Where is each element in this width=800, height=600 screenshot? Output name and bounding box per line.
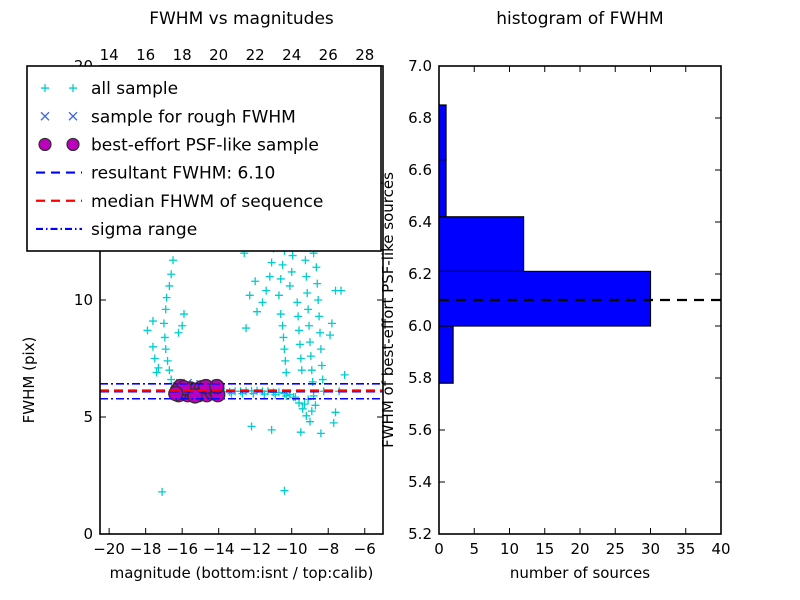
hist-y-tick-label: 5.2 — [408, 525, 432, 543]
data-point-plus — [162, 305, 170, 313]
data-point-plus — [164, 357, 172, 365]
hist-y-tick-label: 6.2 — [408, 265, 432, 283]
data-point-plus — [262, 287, 270, 295]
legend-entry-label: all sample — [91, 79, 178, 99]
hist-x-tick-label: 25 — [606, 540, 625, 558]
data-point-plus — [311, 401, 319, 409]
bottom-tick-label: −20 — [93, 540, 125, 558]
top-tick-label: 18 — [173, 46, 192, 64]
top-tick-label: 24 — [282, 46, 301, 64]
data-point-plus — [300, 400, 308, 408]
data-point-plus — [295, 399, 303, 407]
data-point-plus — [268, 259, 276, 267]
histogram-bar — [439, 217, 524, 272]
data-point-plus — [178, 322, 186, 330]
data-point-plus — [308, 407, 316, 415]
hist-x-tick-label: 10 — [500, 540, 519, 558]
data-point-plus — [308, 366, 316, 374]
figure-canvas: FWHM vs magnitudes1416182022242628−20−18… — [0, 0, 800, 600]
data-point-plus — [288, 268, 296, 276]
matplotlib-figure: FWHM vs magnitudes1416182022242628−20−18… — [0, 0, 800, 600]
data-point-plus — [281, 357, 289, 365]
hist-x-tick-label: 5 — [469, 540, 479, 558]
hist-y-tick-label: 5.6 — [408, 421, 432, 439]
bottom-tick-label: −6 — [354, 540, 376, 558]
hist-x-tick-label: 30 — [641, 540, 660, 558]
data-point-plus — [293, 298, 301, 306]
scatter-bottom-axis: −20−18−16−14−12−10−8−6 — [93, 528, 376, 558]
legend-entry-label: best-effort PSF-like sample — [91, 135, 319, 155]
data-point-plus — [326, 331, 334, 339]
hist-y-tick-label: 5.4 — [408, 473, 432, 491]
hist-y-tick-label: 5.8 — [408, 369, 432, 387]
data-point-plus — [303, 289, 311, 297]
histogram-title: histogram of FWHM — [496, 9, 663, 29]
legend-entry-label: resultant FWHM: 6.10 — [91, 164, 275, 184]
data-point-plus — [305, 322, 313, 330]
scatter-title: FWHM vs magnitudes — [149, 9, 334, 29]
top-tick-label: 26 — [319, 46, 338, 64]
data-point-plus — [337, 287, 345, 295]
data-point-plus — [160, 319, 168, 327]
data-point-plus — [332, 408, 340, 416]
data-point-plus — [306, 418, 314, 426]
histogram-bar — [439, 160, 446, 217]
data-point-plus — [143, 326, 151, 334]
legend-entry-label: median FHWM of sequence — [91, 192, 323, 212]
left-tick-label: 10 — [74, 291, 93, 309]
hist-y-tick-label: 6.6 — [408, 161, 432, 179]
bottom-tick-label: −10 — [276, 540, 308, 558]
top-tick-label: 16 — [136, 46, 155, 64]
data-point-plus — [253, 308, 261, 316]
data-point-plus — [318, 362, 326, 370]
hist-x-tick-label: 40 — [711, 540, 730, 558]
data-point-plus — [286, 282, 294, 290]
data-point-plus — [165, 366, 173, 374]
data-point-plus — [277, 275, 285, 283]
legend-box[interactable]: all samplesample for rough FWHMbest-effo… — [27, 66, 381, 251]
data-point-plus — [306, 338, 314, 346]
data-point-plus — [316, 329, 324, 337]
left-tick-label: 5 — [83, 408, 93, 426]
bottom-tick-label: −8 — [317, 540, 339, 558]
bottom-tick-label: −16 — [166, 540, 198, 558]
hist-y-tick-label: 7.0 — [408, 57, 432, 75]
histogram-bar — [439, 271, 651, 326]
data-point-plus — [280, 487, 288, 495]
data-point-plus — [328, 319, 336, 327]
data-point-plus — [175, 329, 183, 337]
data-point-plus — [302, 273, 310, 281]
data-point-plus — [161, 333, 169, 341]
data-point-plus — [151, 355, 159, 363]
data-point-plus — [296, 340, 304, 348]
data-point-plus — [248, 422, 256, 430]
data-point-plus — [315, 312, 323, 320]
data-point-plus — [169, 256, 177, 264]
data-point-plus — [162, 345, 170, 353]
data-point-plus — [341, 371, 349, 379]
hist-x-tick-label: 0 — [434, 540, 444, 558]
data-point-plus — [319, 376, 327, 384]
top-tick-label: 28 — [355, 46, 374, 64]
data-point-plus — [246, 291, 254, 299]
data-point-plus — [317, 345, 325, 353]
legend-marker-circle-icon — [67, 138, 79, 150]
data-point-plus — [165, 282, 173, 290]
data-point-plus — [258, 298, 266, 306]
data-point-plus — [163, 294, 171, 302]
hist-y-tick-label: 6.8 — [408, 109, 432, 127]
hist-x-tick-label: 35 — [676, 540, 695, 558]
data-point-plus — [266, 273, 274, 281]
data-point-plus — [330, 419, 338, 427]
scatter-reference-lines — [100, 384, 383, 399]
data-point-plus — [309, 378, 317, 386]
bottom-tick-label: −12 — [239, 540, 271, 558]
scatter-ylabel: FWHM (pix) — [20, 337, 38, 424]
data-point-plus — [149, 343, 157, 351]
hist-x-tick-label: 20 — [570, 540, 589, 558]
data-point-plus — [312, 263, 320, 271]
histogram-bar — [439, 326, 453, 383]
data-point-plus — [268, 426, 276, 434]
hist-y-tick-label: 6.4 — [408, 213, 432, 231]
legend-marker-circle-icon — [39, 138, 51, 150]
data-point-plus — [297, 355, 305, 363]
data-point-plus — [302, 412, 310, 420]
data-point-plus — [279, 333, 287, 341]
legend-entry-label: sample for rough FWHM — [91, 107, 296, 127]
data-point-plus — [307, 352, 315, 360]
hist-y-tick-label: 6.0 — [408, 317, 432, 335]
scatter-xlabel: magnitude (bottom:isnt / top:calib) — [110, 564, 374, 582]
data-point-plus — [295, 326, 303, 334]
data-point-plus — [180, 310, 188, 318]
data-point-plus — [277, 310, 285, 318]
top-tick-label: 14 — [100, 46, 119, 64]
data-point-plus — [294, 312, 302, 320]
data-point-plus — [154, 364, 162, 372]
legend-frame — [27, 66, 381, 251]
data-point-plus — [299, 405, 307, 413]
histogram-bars — [439, 105, 651, 383]
data-point-plus — [149, 317, 157, 325]
top-tick-label: 22 — [246, 46, 265, 64]
left-tick-label: 0 — [83, 525, 93, 543]
data-point-plus — [153, 369, 161, 377]
data-point-plus — [314, 296, 322, 304]
data-point-plus — [301, 256, 309, 264]
bottom-tick-label: −14 — [203, 540, 235, 558]
data-point-plus — [251, 277, 259, 285]
data-point-plus — [282, 369, 290, 377]
data-point-plus — [158, 488, 166, 496]
data-point-plus — [280, 345, 288, 353]
legend-entry-label: sigma range — [91, 220, 197, 240]
data-point-plus — [275, 291, 283, 299]
histogram-xlabel: number of sources — [510, 564, 650, 582]
data-point-plus — [297, 428, 305, 436]
top-tick-label: 20 — [209, 46, 228, 64]
bottom-tick-label: −18 — [130, 540, 162, 558]
histogram-bar — [439, 105, 446, 160]
data-point-plus — [298, 366, 306, 374]
data-point-plus — [167, 270, 175, 278]
hist-x-tick-label: 15 — [535, 540, 554, 558]
data-point-plus — [279, 322, 287, 330]
data-point-plus — [317, 429, 325, 437]
data-point-plus — [304, 305, 312, 313]
data-point-plus — [242, 324, 250, 332]
data-point-plus — [289, 252, 297, 260]
histogram-panel: histogram of FWHM05101520253035405.25.45… — [379, 9, 731, 582]
data-point-plus — [313, 280, 321, 288]
data-point-plus — [279, 261, 287, 269]
